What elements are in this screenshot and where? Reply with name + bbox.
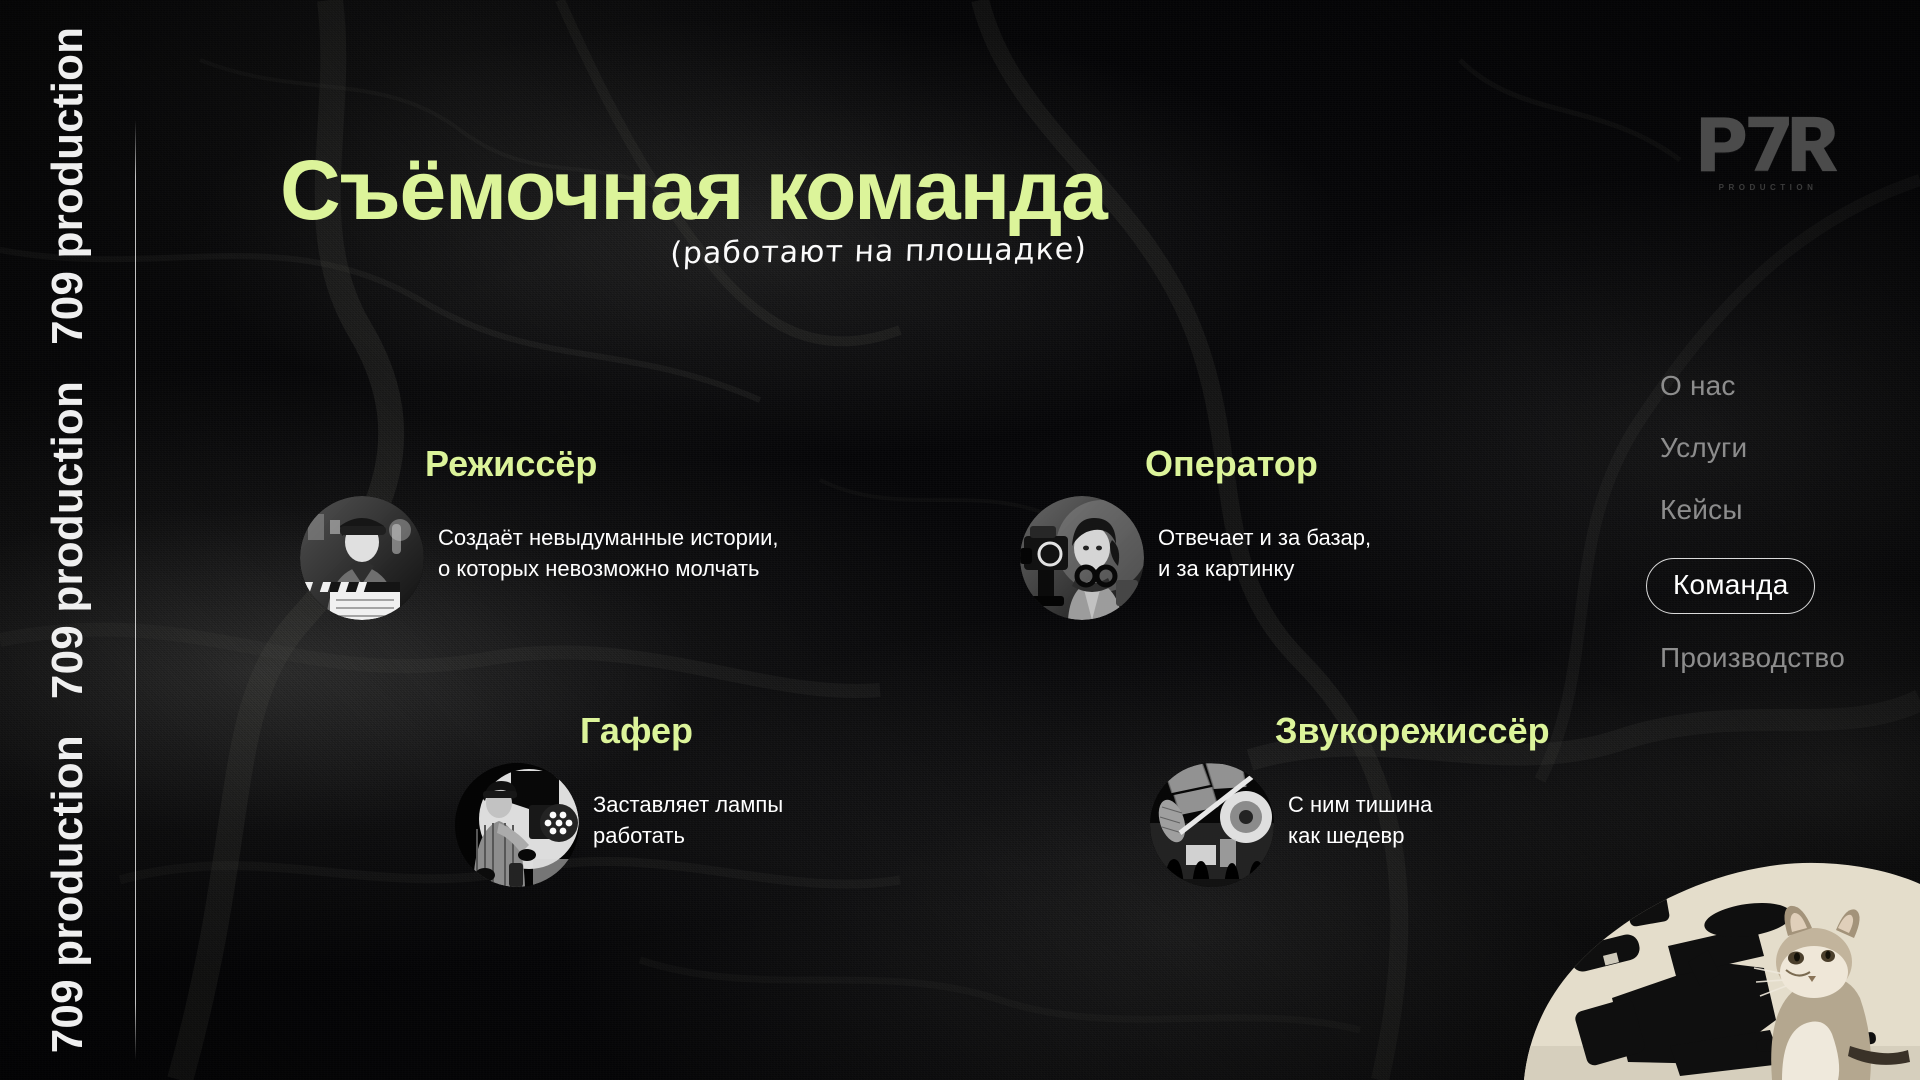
member-description: С ним тишина как шедевр	[1288, 763, 1432, 851]
logo-mark: Р7Я	[1694, 112, 1842, 180]
rail-brand-unit: 709 production	[43, 717, 93, 1071]
member-role: Режиссёр	[425, 446, 779, 482]
nav-item-about[interactable]: О нас	[1660, 372, 1736, 400]
side-navigation: О нас Услуги Кейсы Команда Производство	[1620, 372, 1920, 706]
member-role: Звукорежиссёр	[1275, 713, 1550, 749]
slide-canvas: 709 production709 production709 producti…	[0, 0, 1920, 1080]
avatar-director	[300, 496, 424, 620]
logo-709-production[interactable]: Р7Я production	[1692, 112, 1844, 198]
avatar-gaffer	[455, 763, 579, 887]
member-description: Заставляет лампы работать	[593, 763, 783, 851]
nav-item-cases[interactable]: Кейсы	[1660, 496, 1743, 524]
rail-brand-unit: 709 production	[43, 1071, 93, 1080]
rail-brand-unit: 709 production	[43, 363, 93, 717]
nav-item-team[interactable]: Команда	[1646, 558, 1815, 614]
member-description: Создаёт невыдуманные истории, о которых …	[438, 496, 779, 584]
logo-mark-text: Р7Я	[1694, 103, 1842, 189]
avatar-sound-engineer	[1150, 763, 1274, 887]
nav-item-production[interactable]: Производство	[1660, 644, 1845, 672]
team-member-director[interactable]: Режиссёр	[300, 446, 779, 620]
member-role: Гафер	[580, 713, 783, 749]
nav-item-services[interactable]: Услуги	[1660, 434, 1747, 462]
team-member-sound-engineer[interactable]: Звукорежиссёр	[1150, 713, 1550, 887]
rail-brand-unit: 709 production	[43, 0, 93, 9]
rail-divider-line	[135, 120, 136, 1060]
rail-brand-unit: 709 production	[43, 9, 93, 363]
member-description: Отвечает и за базар, и за картинку	[1158, 496, 1371, 584]
team-member-gaffer[interactable]: Гафер	[455, 713, 783, 887]
member-role: Оператор	[1145, 446, 1371, 482]
left-brand-rail: 709 production709 production709 producti…	[0, 0, 136, 1080]
camera-and-cat-photo	[1520, 850, 1920, 1080]
team-member-operator[interactable]: Оператор	[1020, 446, 1371, 620]
rail-brand-text: 709 production709 production709 producti…	[24, 0, 112, 1080]
avatar-operator	[1020, 496, 1144, 620]
